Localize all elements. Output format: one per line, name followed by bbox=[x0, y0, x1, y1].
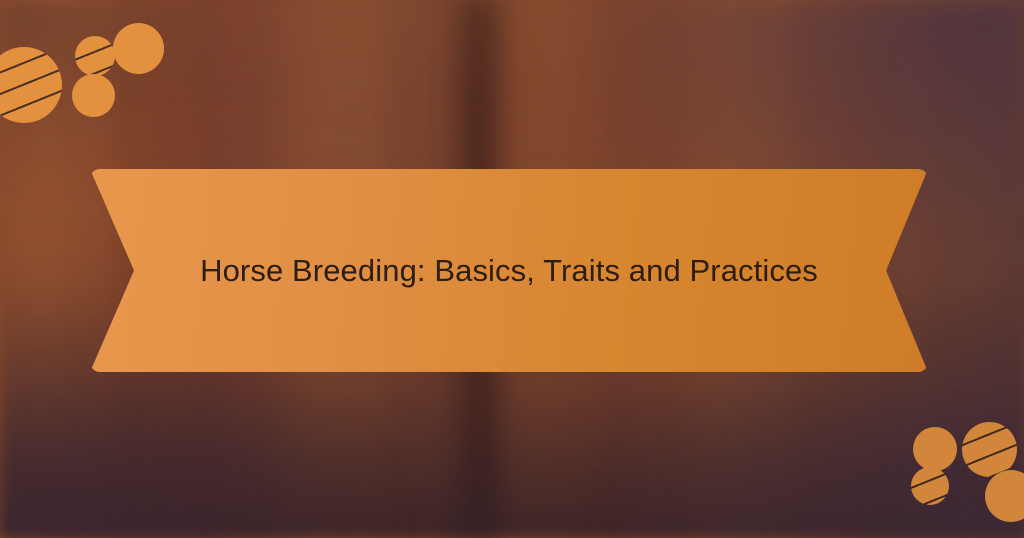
title-card-canvas: Horse Breeding: Basics, Traits and Pract… bbox=[0, 0, 1024, 538]
deco-circle-large-striped bbox=[962, 422, 1017, 477]
deco-circle-medium-plain bbox=[913, 427, 957, 471]
page-title: Horse Breeding: Basics, Traits and Pract… bbox=[200, 253, 818, 289]
deco-circle-small-striped bbox=[75, 36, 115, 76]
deco-circle-large-plain bbox=[113, 23, 164, 74]
deco-circle-corner-plain bbox=[985, 470, 1024, 522]
deco-circle-large-striped bbox=[0, 47, 62, 123]
deco-circle-small-striped bbox=[911, 467, 949, 505]
title-banner: Horse Breeding: Basics, Traits and Pract… bbox=[90, 169, 928, 372]
deco-circle-medium-plain bbox=[72, 74, 115, 117]
